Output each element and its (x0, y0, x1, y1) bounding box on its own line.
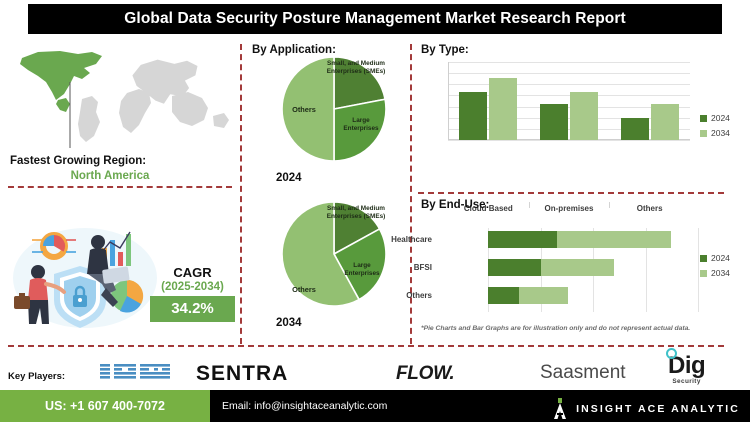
legend-label-end-use-2034: 2034 (711, 268, 730, 278)
legend-item-end-use-2024: 2024 (700, 253, 730, 263)
bar-group (540, 92, 598, 140)
divider-horizontal-right (418, 192, 724, 194)
footer-phone[interactable]: US: +1 607 400-7072 (45, 399, 165, 413)
bar-group (459, 78, 517, 140)
legend-by-type: 2024 2034 (700, 113, 730, 143)
legend-label-2034: 2034 (711, 128, 730, 138)
legend-item-end-use-2034: 2034 (700, 268, 730, 278)
brand-name: INSIGHT ACE ANALYTIC (576, 403, 740, 415)
logo-sentra[interactable]: SENTRA (196, 362, 288, 386)
pie-slice (282, 57, 334, 161)
y-tick-label: BFSI (414, 263, 432, 272)
chart-disclaimer-note: *Pie Charts and Bar Graphs are for illus… (421, 325, 690, 332)
logo-flow[interactable]: FLOW. (396, 363, 454, 385)
tick-separator (529, 202, 530, 208)
brand-mark-icon (552, 398, 568, 420)
bar-segment (488, 287, 519, 304)
bar (570, 92, 598, 140)
y-tick-label: Healthcare (391, 235, 432, 244)
gridline (448, 140, 690, 141)
world-map-svg (8, 42, 230, 154)
fastest-growing-region-label: Fastest Growing Region: (10, 155, 225, 167)
footer-email[interactable]: Email: info@insightaceanalytic.com (222, 400, 387, 412)
pie-chart-2024 (281, 56, 387, 162)
divider-vertical-left (240, 44, 242, 344)
section-title-by-application: By Application: (252, 44, 336, 56)
bar-chart-by-end-use: HealthcareBFSIOthers (488, 228, 698, 312)
security-illustration (10, 218, 160, 336)
bar-segment (541, 259, 614, 276)
dig-logo-ring (666, 348, 677, 359)
bar-row (488, 287, 568, 304)
pie-slice (334, 99, 386, 161)
bar-row (488, 259, 614, 276)
section-title-by-end-use: By End-Use: (421, 199, 489, 211)
gridline (448, 73, 690, 74)
world-map (8, 42, 230, 154)
pie-2024-year: 2024 (276, 172, 302, 184)
y-axis (448, 62, 449, 140)
legend-swatch-2034 (700, 130, 707, 137)
bar-segment (488, 231, 557, 248)
page-title: Global Data Security Posture Management … (124, 10, 626, 28)
cagr-value: 34.2% (150, 296, 235, 322)
logo-ibm[interactable]: IBM (98, 358, 174, 391)
bar (621, 118, 649, 140)
pie-2034-year: 2034 (276, 317, 302, 329)
security-illustration-svg (10, 218, 160, 336)
infographic-page: Global Data Security Posture Management … (0, 0, 750, 422)
divider-horizontal-bottom (8, 345, 724, 347)
pie-chart-2034 (281, 201, 387, 307)
bar-row (488, 231, 671, 248)
key-players-label: Key Players: (8, 371, 65, 382)
legend-swatch-end-use-2034 (700, 270, 707, 277)
bar-segment (488, 259, 541, 276)
bar-group (621, 104, 679, 140)
gridline (448, 62, 690, 63)
bar-segment (557, 231, 672, 248)
legend-swatch-2024 (700, 115, 707, 122)
x-tick-label: On-premises (529, 204, 610, 213)
tick-separator (609, 202, 610, 208)
ibm-logo-svg (98, 358, 174, 386)
bar-segment (519, 287, 569, 304)
logo-saasment[interactable]: Saasment (540, 362, 626, 384)
legend-swatch-end-use-2024 (700, 255, 707, 262)
cagr-label: CAGR (150, 265, 235, 280)
bar (459, 92, 487, 140)
legend-item-2024: 2024 (700, 113, 730, 123)
fastest-growing-region-name: North America (10, 170, 210, 182)
cagr-block: CAGR (2025-2034) 34.2% (150, 265, 235, 322)
legend-by-end-use: 2024 2034 (700, 253, 730, 283)
footer-brand: INSIGHT ACE ANALYTIC (552, 398, 740, 420)
bar (540, 104, 568, 140)
divider-horizontal-left (8, 186, 232, 188)
bar-chart-by-type: Cloud BasedOn-premisesOthers (448, 62, 690, 140)
legend-label-2024: 2024 (711, 113, 730, 123)
gridline (698, 228, 699, 312)
cagr-years: (2025-2034) (150, 281, 235, 293)
x-tick-label: Others (609, 204, 690, 213)
header-bar: Global Data Security Posture Management … (28, 4, 722, 34)
legend-item-2034: 2034 (700, 128, 730, 138)
section-title-by-type: By Type: (421, 44, 469, 56)
y-tick-label: Others (406, 291, 432, 300)
bar (489, 78, 517, 140)
legend-label-end-use-2024: 2024 (711, 253, 730, 263)
footer-phone-block: US: +1 607 400-7072 (0, 390, 210, 422)
bar (651, 104, 679, 140)
logo-dig-security[interactable]: Dig Security (668, 352, 705, 385)
